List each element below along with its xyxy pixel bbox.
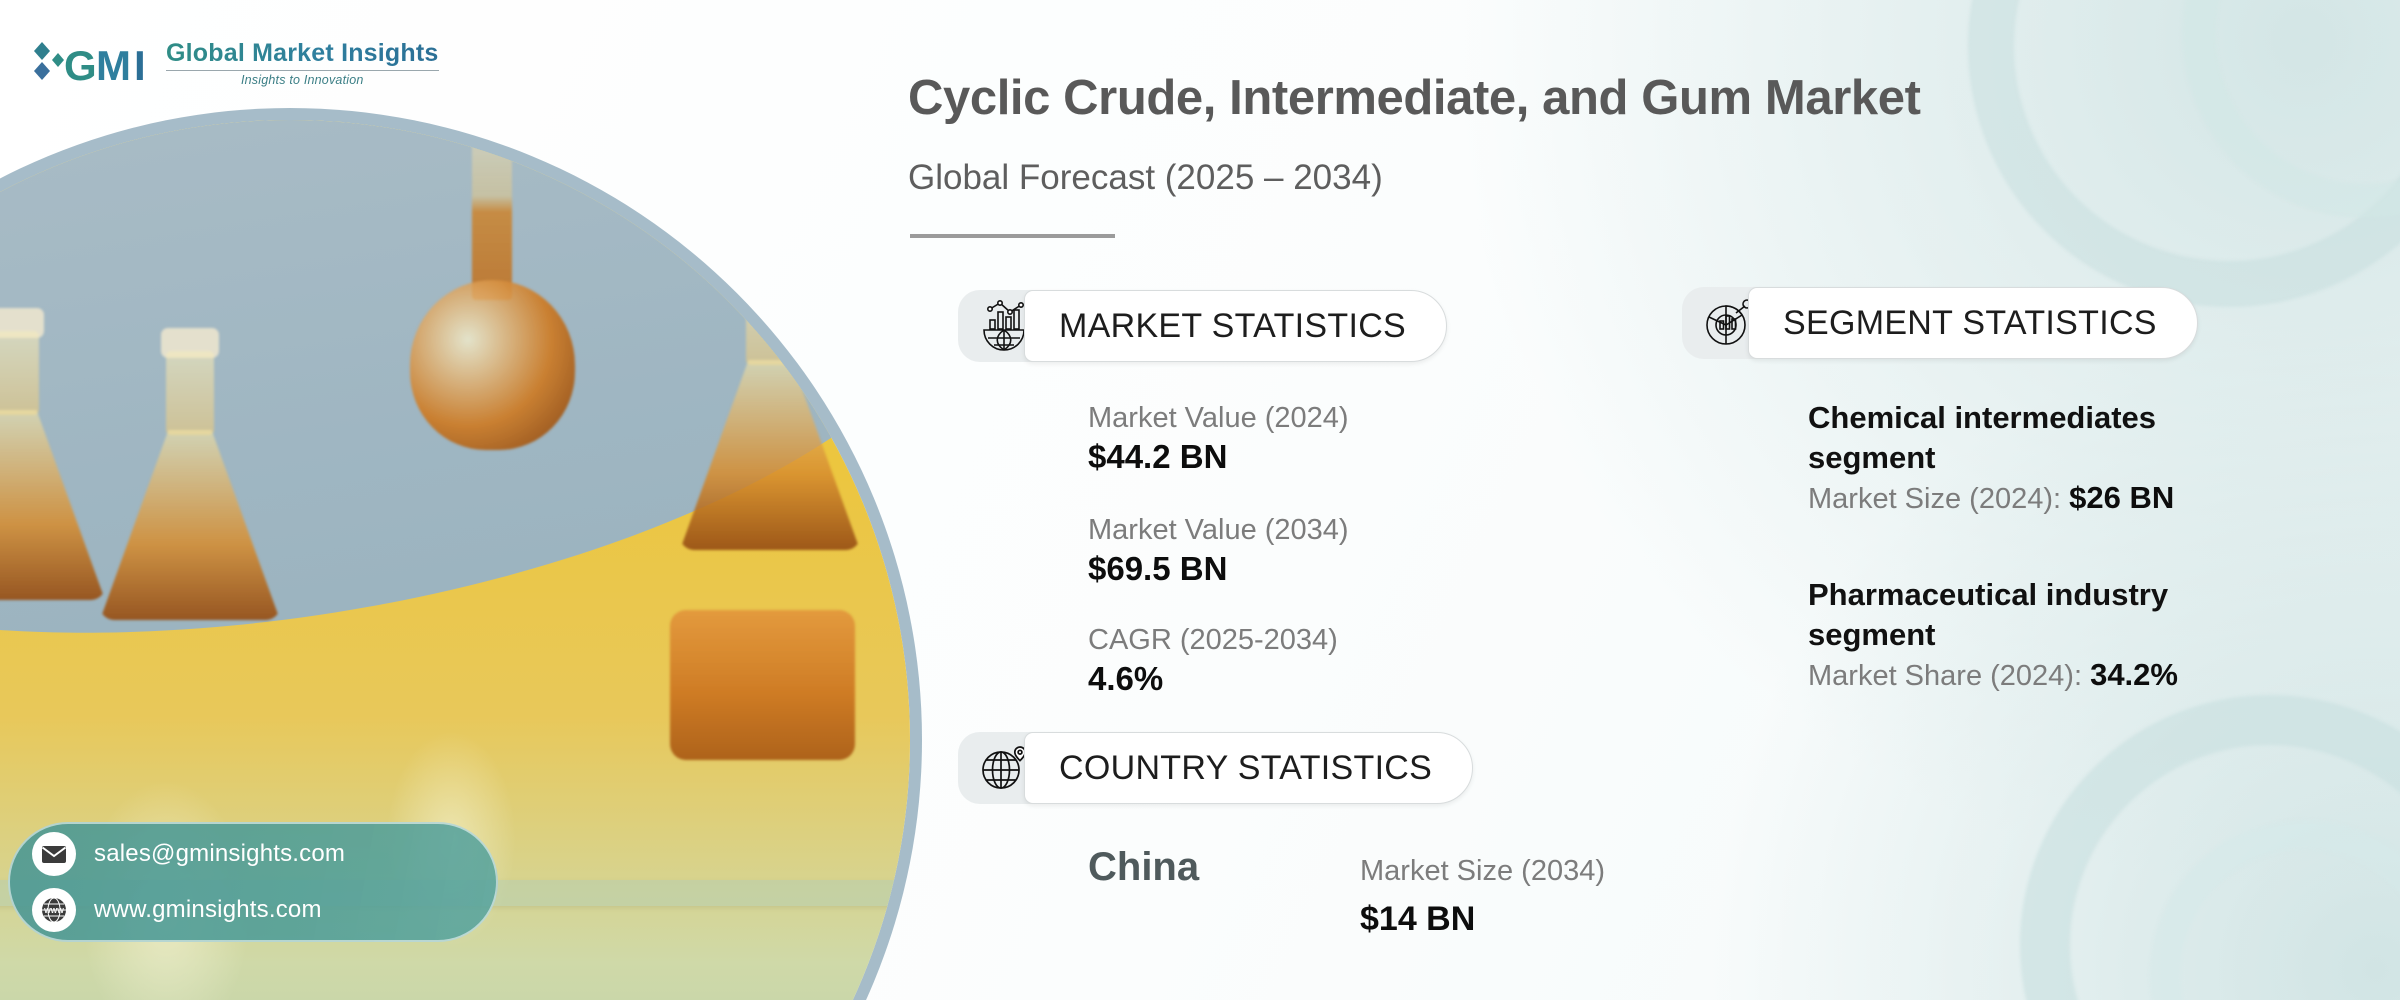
envelope-icon [32,832,76,876]
svg-text:G: G [64,42,97,89]
segment-item-0-title: Chemical intermediates segment [1808,398,2248,477]
segment-statistics-badge-pill: SEGMENT STATISTICS [1748,287,2198,359]
gmi-logo-name: Global Market Insights [166,41,439,66]
segment-item-0-metric: Market Size (2024): $26 BN [1808,477,2248,519]
market-stat-row-2: CAGR (2025-2034) 4.6% [1088,622,1338,701]
svg-text:WWW: WWW [44,908,64,915]
segment-statistics-badge[interactable]: SEGMENT STATISTICS [1682,287,2198,359]
country-metric-label: Market Size (2034) [1360,855,1605,888]
market-stat-label-1: Market Value (2034) [1088,512,1349,548]
segment-item-1-title: Pharmaceutical industry segment [1808,575,2248,654]
segment-statistics-label: SEGMENT STATISTICS [1783,304,2157,343]
page-subtitle: Global Forecast (2025 – 2034) [908,158,1383,198]
contact-website: www.gminsights.com [94,896,322,924]
market-statistics-label: MARKET STATISTICS [1059,307,1406,346]
country-metric-value: $14 BN [1360,900,1475,939]
segment-item-0: Chemical intermediates segment Market Si… [1808,398,2248,519]
segment-item-0-metric-value: $26 BN [2069,480,2174,515]
market-stat-label-2: CAGR (2025-2034) [1088,622,1338,658]
country-statistics-label: COUNTRY STATISTICS [1059,749,1432,788]
contact-panel: sales@gminsights.com WWW www.gminsights.… [8,822,498,942]
gmi-logo-rule [166,70,439,71]
market-stat-row-1: Market Value (2034) $69.5 BN [1088,512,1349,591]
gmi-logo-mark-icon: G M I [28,38,154,90]
market-stat-label-0: Market Value (2024) [1088,400,1349,436]
country-statistics-badge[interactable]: COUNTRY STATISTICS [958,732,1473,804]
market-statistics-badge[interactable]: MARKET STATISTICS [958,290,1447,362]
gmi-logo[interactable]: G M I Global Market Insights Insights to… [28,38,439,90]
segment-item-1-metric-value: 34.2% [2090,657,2178,692]
infographic-canvas: G M I Global Market Insights Insights to… [0,0,2400,1000]
country-name: China [1088,845,1199,890]
title-divider [910,234,1115,238]
market-stat-value-1: $69.5 BN [1088,548,1349,591]
country-statistics-badge-pill: COUNTRY STATISTICS [1024,732,1473,804]
segment-item-1-metric-label: Market Share (2024): [1808,660,2082,692]
segment-item-1-metric: Market Share (2024): 34.2% [1808,654,2248,696]
market-stat-value-0: $44.2 BN [1088,436,1349,479]
market-stat-value-2: 4.6% [1088,658,1338,701]
page-title: Cyclic Crude, Intermediate, and Gum Mark… [908,70,1921,126]
segment-item-1: Pharmaceutical industry segment Market S… [1808,575,2248,696]
svg-text:M: M [96,42,131,89]
segment-item-0-metric-label: Market Size (2024): [1808,483,2061,515]
contact-email: sales@gminsights.com [94,840,345,868]
www-globe-icon: WWW [32,888,76,932]
contact-website-row[interactable]: WWW www.gminsights.com [32,888,496,932]
gmi-logo-text: Global Market Insights Insights to Innov… [166,41,439,87]
market-statistics-badge-pill: MARKET STATISTICS [1024,290,1447,362]
gmi-logo-tagline: Insights to Innovation [166,74,439,87]
contact-email-row[interactable]: sales@gminsights.com [32,832,496,876]
market-stat-row-0: Market Value (2024) $44.2 BN [1088,400,1349,479]
svg-text:I: I [134,42,146,89]
